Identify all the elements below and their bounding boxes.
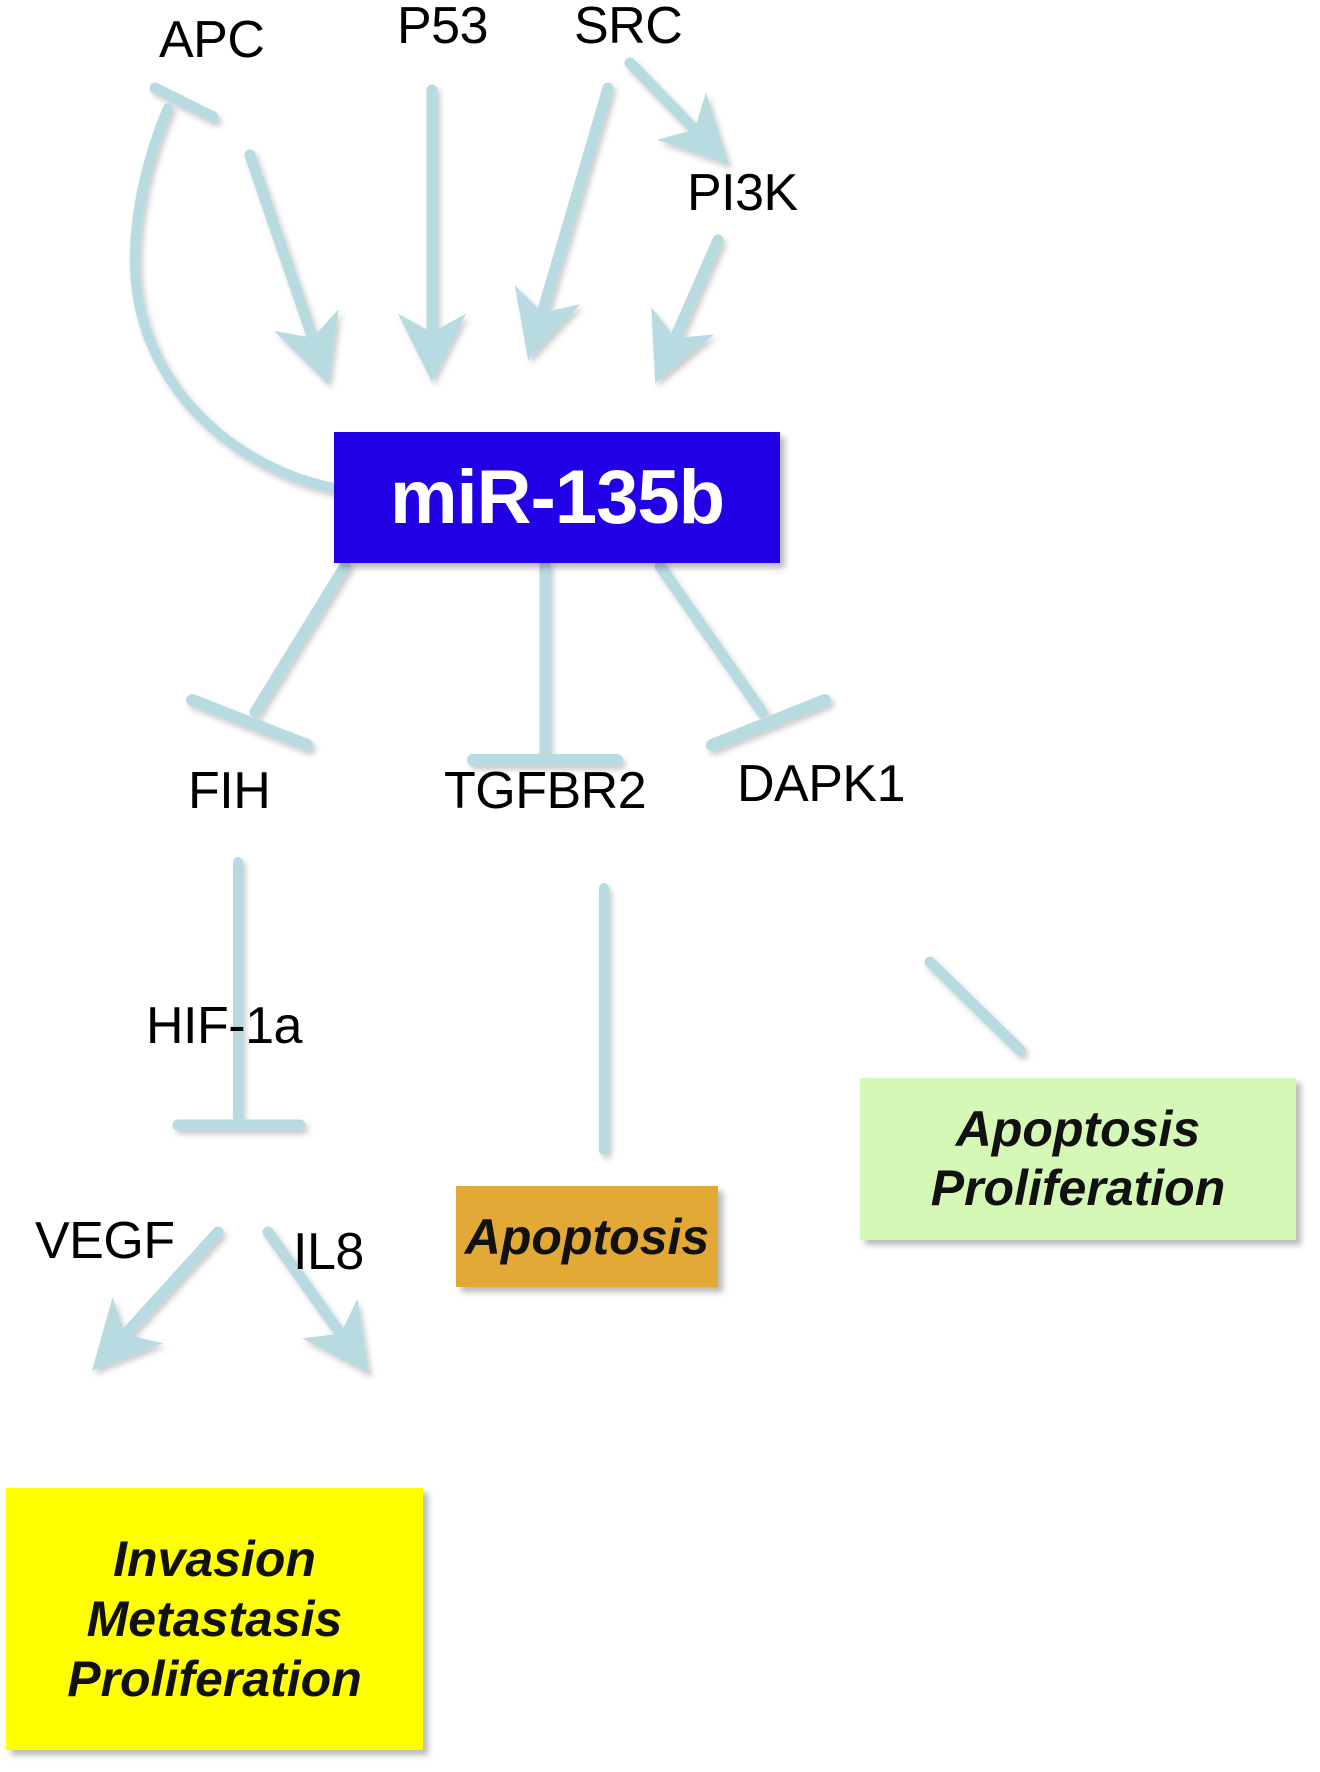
outcome-box-invasion-metastasis-proliferation[interactable]: Invasion Metastasis Proliferation [6,1488,423,1750]
edge-pi3k-to-mir135b [672,240,718,345]
edge-mir135b-to-dapk1 [660,566,762,712]
node-box-mir135b-label: miR-135b [390,454,724,541]
node-label-hif1a: HIF-1a [146,1000,302,1052]
edge-mir135b-to-fih [255,566,345,712]
edge-src-to-mir135b [540,88,608,320]
outcome-box-apoptosis-proliferation[interactable]: Apoptosis Proliferation [860,1078,1296,1240]
node-label-p53: P53 [397,0,488,52]
node-label-fih: FIH [188,765,270,817]
node-label-tgfbr2: TGFBR2 [444,765,646,817]
edge-apc-to-mir135b [250,155,315,345]
inhibition-bar-dapk1 [712,700,825,745]
edge-mir135b-to-apc [135,108,334,488]
outcome-box-apoptosis[interactable]: Apoptosis [456,1186,718,1287]
node-label-vegf: VEGF [35,1215,175,1267]
inhibition-bar-apc [155,88,213,117]
node-label-il8: IL8 [293,1226,364,1278]
node-label-src: SRC [574,0,682,52]
inhibition-bar-fih [192,700,307,745]
node-label-pi3k: PI3K [687,167,798,219]
edge-src-to-pi3k [630,63,700,135]
pathway-diagram: APC P53 SRC PI3K FIH TGFBR2 DAPK1 HIF-1a… [0,0,1320,1772]
outcome-box-apoptosis-proliferation-line-1: Apoptosis [956,1100,1200,1159]
node-label-dapk1: DAPK1 [737,758,905,810]
node-label-apc: APC [159,14,264,66]
outcome-box-invasion-line-2: Metastasis [87,1589,343,1649]
outcome-box-apoptosis-proliferation-line-2: Proliferation [931,1159,1225,1218]
outcome-box-invasion-line-1: Invasion [113,1529,316,1589]
node-box-mir135b[interactable]: miR-135b [334,432,780,563]
edge-dapk1-to-apoptosis-proliferation [930,962,1020,1050]
outcome-box-invasion-line-3: Proliferation [67,1649,361,1709]
outcome-box-apoptosis-line-1: Apoptosis [465,1208,709,1266]
